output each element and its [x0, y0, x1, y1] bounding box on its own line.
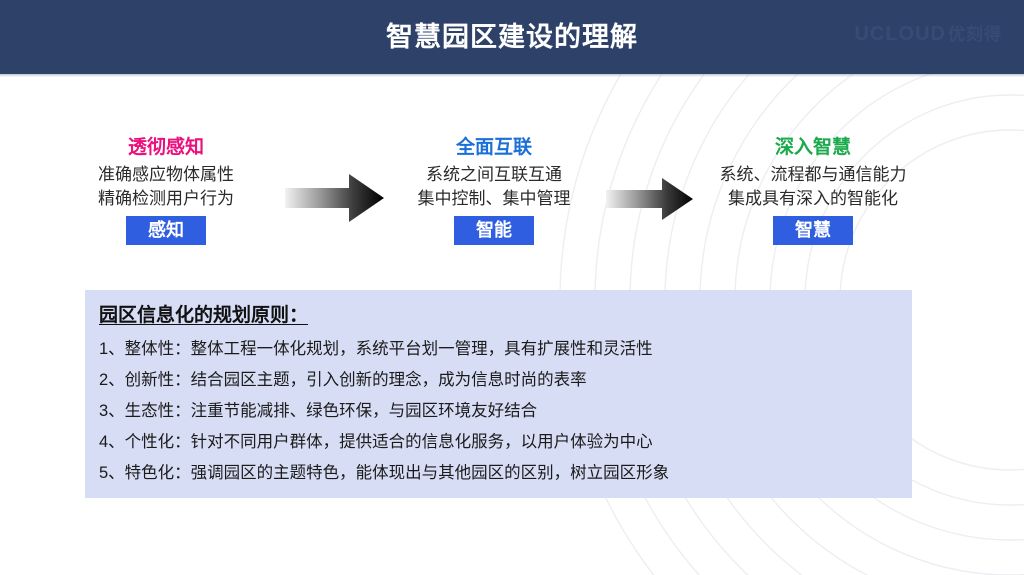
pillar-intelligence: 深入智慧 系统、流程都与通信能力 集成具有深入的智能化 智慧	[690, 136, 936, 245]
pillar-badge-perception[interactable]: 感知	[126, 216, 206, 245]
list-item: 2、创新性：结合园区主题，引入创新的理念，成为信息时尚的表率	[99, 365, 912, 396]
pillar-line-intelligence-1: 系统、流程都与通信能力	[690, 163, 936, 187]
principles-panel-title: 园区信息化的规划原则：	[99, 302, 308, 330]
list-item: 3、生态性：注重节能减排、绿色环保，与园区环境友好结合	[99, 396, 912, 427]
pillar-line-perception-1: 准确感应物体属性	[60, 163, 272, 187]
pillar-title-perception: 透彻感知	[60, 136, 272, 160]
arrow-right-icon-2	[606, 176, 694, 222]
pillar-line-interconnect-2: 集中控制、集中管理	[388, 187, 600, 211]
list-item: 4、个性化：针对不同用户群体，提供适合的信息化服务，以用户体验为中心	[99, 427, 912, 458]
slide-root: 智慧园区建设的理解 UCLOUD优刻得 透彻感知 准确感应物体属性 精确检测用户…	[0, 0, 1024, 575]
pillar-badge-interconnect[interactable]: 智能	[454, 216, 534, 245]
pillar-perception: 透彻感知 准确感应物体属性 精确检测用户行为 感知	[60, 136, 272, 245]
list-item: 1、整体性：整体工程一体化规划，系统平台划一管理，具有扩展性和灵活性	[99, 334, 912, 365]
brand-logo-chinese: 优刻得	[948, 25, 1002, 44]
pillars-section: 透彻感知 准确感应物体属性 精确检测用户行为 感知 全面互联 系统之间互联互通 …	[0, 136, 1024, 261]
pillar-interconnect: 全面互联 系统之间互联互通 集中控制、集中管理 智能	[388, 136, 600, 245]
pillar-line-perception-2: 精确检测用户行为	[60, 187, 272, 211]
header-shadow	[0, 74, 1024, 77]
principles-panel: 园区信息化的规划原则： 1、整体性：整体工程一体化规划，系统平台划一管理，具有扩…	[85, 290, 912, 498]
pillar-line-intelligence-2: 集成具有深入的智能化	[690, 187, 936, 211]
brand-logo-latin: UCLOUD	[854, 23, 946, 45]
pillar-badge-intelligence[interactable]: 智慧	[773, 216, 853, 245]
pillar-title-intelligence: 深入智慧	[690, 136, 936, 160]
pillar-line-interconnect-1: 系统之间互联互通	[388, 163, 600, 187]
brand-logo: UCLOUD优刻得	[854, 20, 1002, 46]
list-item: 5、特色化：强调园区的主题特色，能体现出与其他园区的区别，树立园区形象	[99, 458, 912, 489]
principles-list: 1、整体性：整体工程一体化规划，系统平台划一管理，具有扩展性和灵活性 2、创新性…	[99, 334, 912, 489]
arrow-right-icon-1	[285, 172, 385, 224]
pillar-title-interconnect: 全面互联	[388, 136, 600, 160]
